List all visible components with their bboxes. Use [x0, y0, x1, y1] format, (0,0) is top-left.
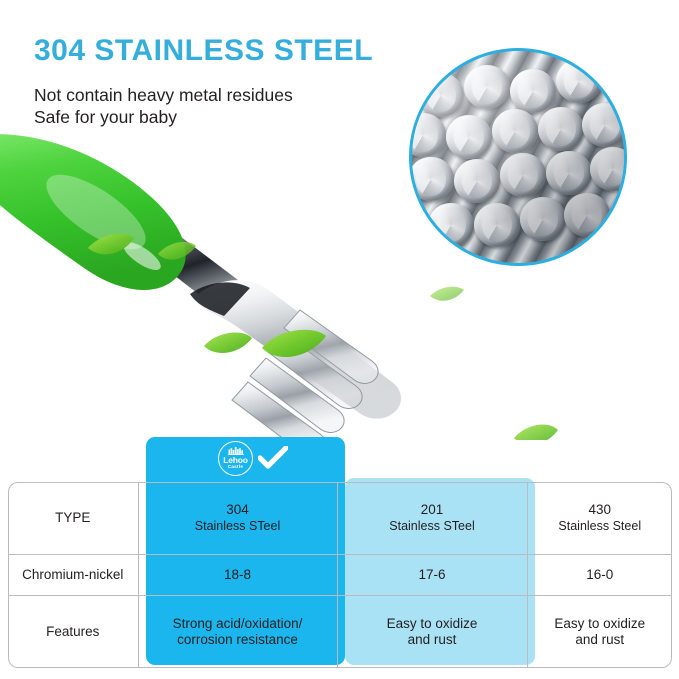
comparison-table: TYPE 304 Stainless STeel 201 Stainless S…	[8, 482, 672, 668]
cell-features-201-line1: Easy to oxidize	[339, 616, 526, 632]
product-feature-image: 304 STAINLESS STEEL Not contain heavy me…	[0, 0, 679, 679]
cell-type-201-material: Stainless STeel	[339, 518, 526, 534]
cell-chromium-430: 16-0	[527, 555, 672, 595]
cell-type-304-material: Stainless STeel	[140, 518, 336, 534]
cell-features-304-line1: Strong acid/oxidation/	[140, 616, 336, 632]
cell-features-304: Strong acid/oxidation/ corrosion resista…	[138, 595, 337, 668]
cell-chromium-201: 17-6	[337, 555, 527, 595]
cell-chromium-304: 18-8	[138, 555, 337, 595]
table-row: TYPE 304 Stainless STeel 201 Stainless S…	[8, 482, 672, 555]
cell-features-430: Easy to oxidize and rust	[527, 595, 672, 668]
table-row: Features Strong acid/oxidation/ corrosio…	[8, 595, 672, 668]
checkmark-icon	[258, 446, 288, 470]
subtitle-line-1: Not contain heavy metal residues	[34, 84, 293, 106]
brand-badge: Lehoo Castle	[218, 441, 296, 475]
row-label-type: TYPE	[8, 482, 138, 555]
cell-features-430-line2: and rust	[529, 632, 672, 648]
cell-type-430: 430 Stainless Steel	[527, 482, 672, 555]
cell-type-304-grade: 304	[140, 502, 336, 518]
cell-type-201-grade: 201	[339, 502, 526, 518]
castle-icon	[228, 446, 244, 455]
cell-type-201: 201 Stainless STeel	[337, 482, 527, 555]
page-title: 304 STAINLESS STEEL	[34, 34, 373, 68]
table-row: Chromium-nickel 18-8 17-6 16-0	[8, 555, 672, 595]
cell-features-201: Easy to oxidize and rust	[337, 595, 527, 668]
cell-type-304: 304 Stainless STeel	[138, 482, 337, 555]
cell-type-430-grade: 430	[529, 502, 672, 518]
row-label-chromium-nickel: Chromium-nickel	[8, 555, 138, 595]
comparison-table-wrapper: TYPE 304 Stainless STeel 201 Stainless S…	[8, 482, 672, 668]
brand-logo: Lehoo Castle	[218, 441, 253, 476]
cell-features-430-line1: Easy to oxidize	[529, 616, 672, 632]
cell-type-430-material: Stainless Steel	[529, 518, 672, 534]
cell-features-201-line2: and rust	[339, 632, 526, 648]
row-label-features: Features	[8, 595, 138, 668]
cell-features-304-line2: corrosion resistance	[140, 632, 336, 648]
brand-subname: Castle	[228, 465, 244, 470]
fork-illustration	[0, 120, 520, 440]
